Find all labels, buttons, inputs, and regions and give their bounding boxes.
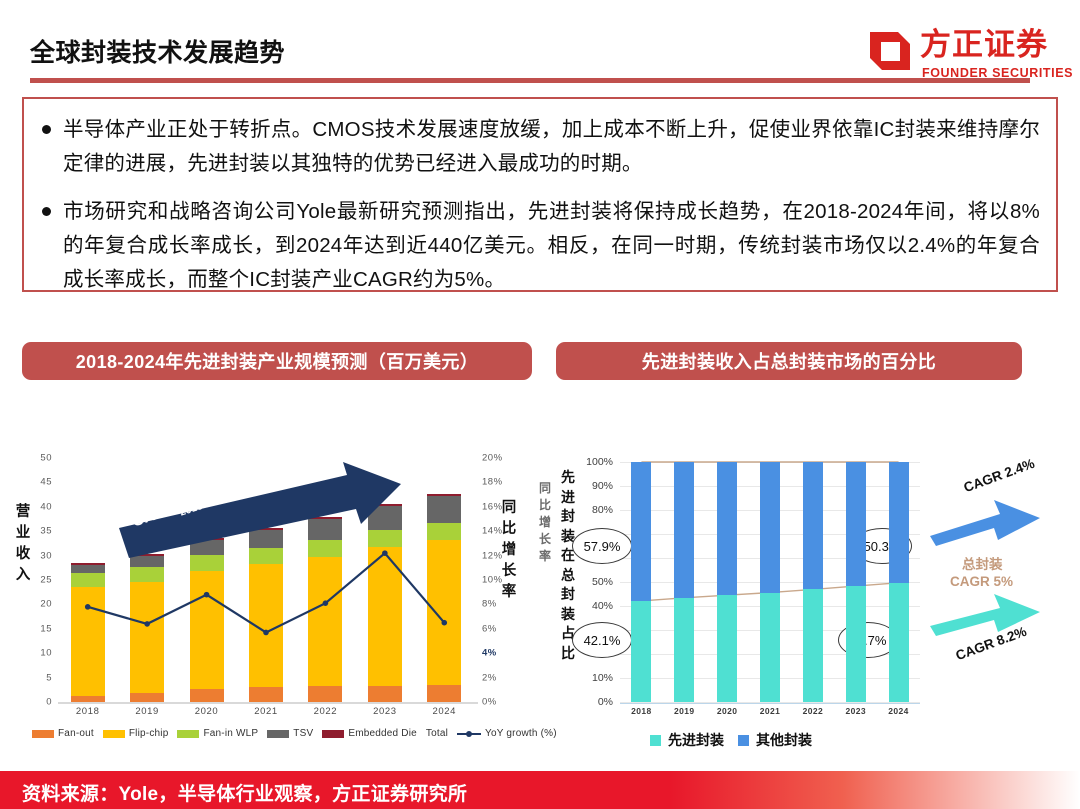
chart-title-banner-left: 2018-2024年先进封装产业规模预测（百万美元） bbox=[22, 342, 532, 380]
right-chart-y-tick: 80% bbox=[592, 504, 613, 516]
left-chart-legend-item[interactable]: Flip-chip bbox=[103, 728, 169, 739]
left-chart-y-tick: 5 bbox=[46, 672, 52, 683]
cagr-upper-arrow-icon bbox=[928, 492, 1046, 548]
logo-english-name: FOUNDER SECURITIES bbox=[922, 66, 1073, 80]
right-chart-segment-advanced bbox=[889, 583, 909, 702]
right-chart-y-tick: 50% bbox=[592, 576, 613, 588]
left-chart-secondary-y-tick: 20% bbox=[482, 453, 503, 464]
left-chart-x-label: 2019 bbox=[121, 706, 173, 717]
left-chart-x-label: 2024 bbox=[418, 706, 470, 717]
slide-header: 全球封装技术发展趋势 方正证券 FOUNDER SECURITIES bbox=[0, 0, 1080, 92]
cagr-lower-arrow-icon bbox=[928, 590, 1046, 640]
footer-bar: 资料来源：Yole，半导体行业观察，方正证券研究所 bbox=[0, 771, 1080, 809]
left-chart-y-axis-label: 营业收入 bbox=[12, 502, 34, 586]
right-chart-bar bbox=[889, 462, 909, 702]
slide: 全球封装技术发展趋势 方正证券 FOUNDER SECURITIES 半导体产业… bbox=[0, 0, 1080, 809]
left-chart-x-label: 2021 bbox=[240, 706, 292, 717]
left-chart-y-tick: 45 bbox=[40, 477, 52, 488]
bullet-text: 市场研究和战略咨询公司Yole最新研究预测指出，先进封装将保持成长趋势，在201… bbox=[63, 195, 1040, 297]
bullet-item: 市场研究和战略咨询公司Yole最新研究预测指出，先进封装将保持成长趋势，在201… bbox=[42, 195, 1040, 297]
right-chart-bar bbox=[674, 462, 694, 702]
bullet-item: 半导体产业正处于转折点。CMOS技术发展速度放缓，加上成本不断上升，促使业界依靠… bbox=[42, 113, 1040, 181]
right-chart-x-label: 2018 bbox=[620, 706, 662, 716]
right-chart-segment-other bbox=[803, 462, 823, 589]
left-chart-secondary-y-tick: 2% bbox=[482, 672, 497, 683]
right-chart-legend-item[interactable]: 其他封装 bbox=[738, 730, 812, 750]
left-chart-y-tick: 30 bbox=[40, 550, 52, 561]
right-chart-bar bbox=[846, 462, 866, 702]
left-chart-secondary-y-tick: 8% bbox=[482, 599, 497, 610]
legend-label: Embedded Die bbox=[348, 728, 417, 739]
right-chart-segment-other bbox=[889, 462, 909, 583]
left-chart-y-tick: 10 bbox=[40, 648, 52, 659]
left-chart-secondary-y-tick: 4% bbox=[482, 648, 497, 659]
legend-swatch-icon bbox=[32, 730, 54, 738]
right-chart-x-label: 2023 bbox=[835, 706, 877, 716]
left-chart-legend-item[interactable]: Fan-out bbox=[32, 728, 94, 739]
legend-swatch-icon bbox=[177, 730, 199, 738]
left-chart-y-tick: 50 bbox=[40, 453, 52, 464]
right-chart-bar bbox=[717, 462, 737, 702]
right-chart-legend-item[interactable]: 先进封装 bbox=[650, 730, 724, 750]
legend-swatch-icon bbox=[738, 735, 749, 746]
left-chart-x-label: 2020 bbox=[181, 706, 233, 717]
right-chart-y-tick: 10% bbox=[592, 672, 613, 684]
legend-label: Flip-chip bbox=[129, 728, 169, 739]
right-chart-x-label: 2022 bbox=[792, 706, 834, 716]
right-chart-segment-advanced bbox=[717, 595, 737, 702]
left-chart-x-label: 2018 bbox=[62, 706, 114, 717]
chart-title-banner-right: 先进封装收入占总封装市场的百分比 bbox=[556, 342, 1022, 380]
right-chart-segment-advanced bbox=[674, 598, 694, 702]
bullet-dot-icon bbox=[42, 125, 51, 134]
right-chart-y-tick: 90% bbox=[592, 480, 613, 492]
right-chart-segment-other bbox=[717, 462, 737, 595]
left-chart-secondary-y-tick: 18% bbox=[482, 477, 503, 488]
left-chart-plot-area: 051015202530354045500%2%4%6%8%10%12%14%1… bbox=[58, 458, 474, 702]
right-chart-y-tick: 0% bbox=[598, 696, 613, 708]
right-chart-plot-area: 0%10%20%30%40%50%60%70%80%90%100%2018201… bbox=[620, 462, 920, 702]
annotation-cagr-other: CAGR 2.4% bbox=[962, 456, 1037, 496]
right-chart-segment-other bbox=[846, 462, 866, 586]
bullet-dot-icon bbox=[42, 207, 51, 216]
right-chart-bar bbox=[803, 462, 823, 702]
left-chart-secondary-y-tick: 16% bbox=[482, 501, 503, 512]
left-chart-legend: Fan-outFlip-chipFan-in WLPTSVEmbedded Di… bbox=[32, 728, 532, 739]
chart-advanced-packaging-share: 同比增长率 先进封装在总封装占比 0%10%20%30%40%50%60%70%… bbox=[530, 440, 1078, 760]
right-chart-bar bbox=[631, 462, 651, 702]
right-chart-outer-label: 同比增长率 bbox=[536, 480, 554, 565]
left-chart-yoy-line bbox=[58, 458, 474, 702]
right-chart-segment-other bbox=[674, 462, 694, 598]
page-title: 全球封装技术发展趋势 bbox=[30, 33, 285, 69]
legend-label: Total bbox=[426, 728, 448, 739]
left-chart-x-axis bbox=[58, 702, 478, 704]
right-chart-x-label: 2024 bbox=[878, 706, 920, 716]
company-logo: 方正证券 FOUNDER SECURITIES bbox=[868, 26, 1068, 84]
summary-box: 半导体产业正处于转折点。CMOS技术发展速度放缓，加上成本不断上升，促使业界依靠… bbox=[22, 97, 1058, 292]
logo-chinese-name: 方正证券 bbox=[920, 26, 1048, 64]
right-chart-segment-other bbox=[760, 462, 780, 593]
legend-label: Fan-out bbox=[58, 728, 94, 739]
left-chart-y-tick: 20 bbox=[40, 599, 52, 610]
right-chart-x-label: 2019 bbox=[663, 706, 705, 716]
left-chart-y-tick: 25 bbox=[40, 575, 52, 586]
legend-swatch-icon bbox=[322, 730, 344, 738]
right-chart-bar bbox=[760, 462, 780, 702]
left-chart-secondary-y-tick: 10% bbox=[482, 575, 503, 586]
left-chart-secondary-y-tick: 6% bbox=[482, 623, 497, 634]
left-chart-y-tick: 15 bbox=[40, 623, 52, 634]
right-chart-y-tick: 100% bbox=[586, 456, 613, 468]
left-chart-secondary-y-tick: 12% bbox=[482, 550, 503, 561]
left-chart-y-tick: 35 bbox=[40, 526, 52, 537]
legend-swatch-icon bbox=[267, 730, 289, 738]
chart-advanced-packaging-revenue: 营业收入 同比增长率 051015202530354045500%2%4%6%8… bbox=[10, 440, 530, 760]
right-chart-gridline bbox=[620, 702, 920, 703]
right-chart-segment-advanced bbox=[846, 586, 866, 702]
bullet-text: 半导体产业正处于转折点。CMOS技术发展速度放缓，加上成本不断上升，促使业界依靠… bbox=[63, 113, 1040, 181]
right-chart-segment-advanced bbox=[631, 601, 651, 702]
right-chart-segment-advanced bbox=[760, 593, 780, 702]
left-chart-x-label: 2023 bbox=[359, 706, 411, 717]
left-chart-legend-item[interactable]: Total bbox=[426, 728, 448, 739]
source-note: 资料来源：Yole，半导体行业观察，方正证券研究所 bbox=[22, 779, 467, 806]
right-chart-legend: 先进封装其他封装 bbox=[650, 730, 812, 750]
right-chart-y-tick: 40% bbox=[592, 600, 613, 612]
annotation-total-packaging-label: 总封装 bbox=[962, 556, 1003, 573]
left-chart-legend-item[interactable]: Fan-in WLP bbox=[177, 728, 258, 739]
right-chart-segment-advanced bbox=[803, 589, 823, 702]
left-chart-x-label: 2022 bbox=[299, 706, 351, 717]
left-chart-y-tick: 0 bbox=[46, 697, 52, 708]
left-chart-secondary-y-tick: 14% bbox=[482, 526, 503, 537]
founder-logo-mark bbox=[868, 30, 912, 72]
left-chart-legend-item[interactable]: TSV bbox=[267, 728, 313, 739]
right-chart-x-label: 2021 bbox=[749, 706, 791, 716]
legend-label: Fan-in WLP bbox=[203, 728, 258, 739]
annotation-total-packaging-cagr: CAGR 5% bbox=[950, 573, 1013, 590]
right-chart-x-label: 2020 bbox=[706, 706, 748, 716]
legend-label: TSV bbox=[293, 728, 313, 739]
legend-label: 其他封装 bbox=[756, 730, 812, 750]
left-chart-legend-item[interactable]: Embedded Die bbox=[322, 728, 417, 739]
left-chart-secondary-y-tick: 0% bbox=[482, 697, 497, 708]
legend-line-icon bbox=[457, 730, 481, 738]
left-chart-y-tick: 40 bbox=[40, 501, 52, 512]
right-chart-segment-other bbox=[631, 462, 651, 601]
legend-label: 先进封装 bbox=[668, 730, 724, 750]
legend-swatch-icon bbox=[103, 730, 125, 738]
legend-swatch-icon bbox=[650, 735, 661, 746]
